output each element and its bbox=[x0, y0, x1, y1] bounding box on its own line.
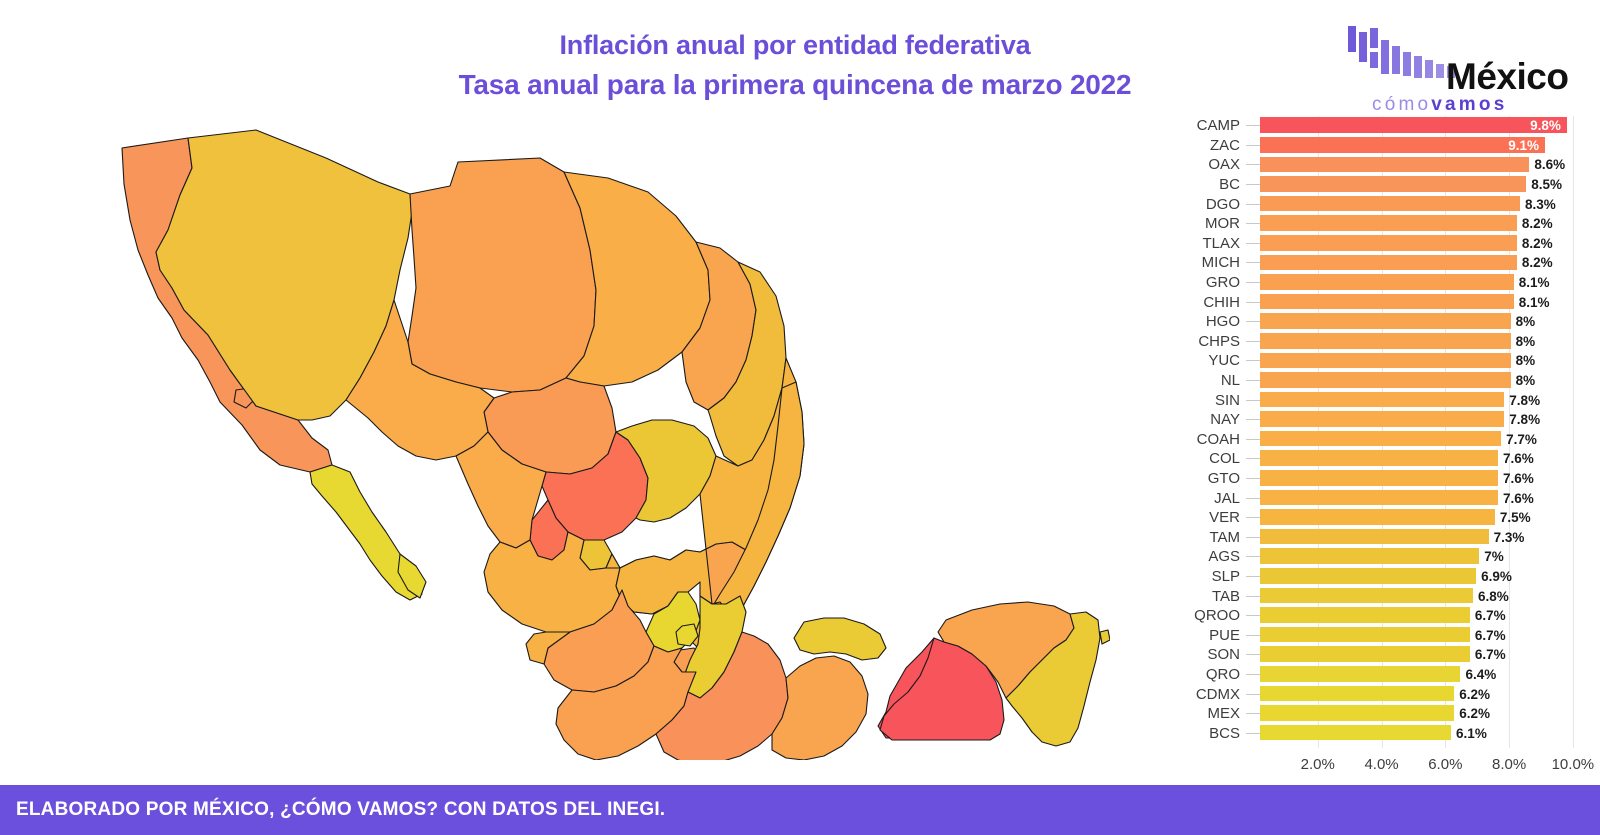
bar-row[interactable]: CHIH8.1% bbox=[1160, 292, 1592, 312]
bar-row[interactable]: SON6.7% bbox=[1160, 645, 1592, 665]
logo-tagline-vamos: vamos bbox=[1431, 94, 1507, 115]
logo-bar-8 bbox=[1425, 60, 1433, 78]
bar-fill[interactable] bbox=[1260, 470, 1498, 486]
chart-x-axis: 2.0%4.0%6.0%8.0%10.0% bbox=[1254, 750, 1592, 780]
bar-track: 7.7% bbox=[1260, 430, 1592, 450]
bar-category-label: VER bbox=[1160, 510, 1246, 525]
bar-category-label: MOR bbox=[1160, 216, 1246, 231]
bar-track: 6.7% bbox=[1260, 645, 1592, 665]
bar-category-label: SLP bbox=[1160, 569, 1246, 584]
bar-row[interactable]: SLP6.9% bbox=[1160, 567, 1592, 587]
bar-fill[interactable] bbox=[1260, 490, 1498, 506]
logo-bar-5 bbox=[1392, 46, 1400, 74]
bar-fill[interactable] bbox=[1260, 176, 1526, 192]
bar-value-label: 6.2% bbox=[1454, 704, 1490, 724]
bar-category-label: CHPS bbox=[1160, 334, 1246, 349]
bar-value-label: 6.2% bbox=[1454, 684, 1490, 704]
bar-fill[interactable] bbox=[1260, 450, 1498, 466]
logo-bar-3 bbox=[1370, 52, 1378, 68]
bar-row[interactable]: SIN7.8% bbox=[1160, 390, 1592, 410]
bar-value-label: 7.6% bbox=[1498, 449, 1534, 469]
bar-value-label: 7% bbox=[1479, 547, 1504, 567]
bar-row[interactable]: HGO8% bbox=[1160, 312, 1592, 332]
bar-tick-stub bbox=[1246, 635, 1260, 636]
bar-category-label: YUC bbox=[1160, 353, 1246, 368]
bar-tick-stub bbox=[1246, 400, 1260, 401]
bar-row[interactable]: GTO7.6% bbox=[1160, 469, 1592, 489]
bar-tick-stub bbox=[1246, 380, 1260, 381]
bar-category-label: CAMP bbox=[1160, 118, 1246, 133]
state-qroo-island bbox=[1100, 630, 1110, 644]
bar-category-label: BC bbox=[1160, 177, 1246, 192]
bar-row[interactable]: ZAC9.1% bbox=[1160, 136, 1592, 156]
bar-tick-stub bbox=[1246, 556, 1260, 557]
bar-track: 7.6% bbox=[1260, 449, 1592, 469]
bar-row[interactable]: CAMP9.8% bbox=[1160, 116, 1592, 136]
bar-value-label: 8.6% bbox=[1529, 155, 1565, 175]
bar-category-label: QROO bbox=[1160, 608, 1246, 623]
bar-track: 8.5% bbox=[1260, 175, 1592, 195]
bar-category-label: GTO bbox=[1160, 471, 1246, 486]
bar-value-label: 8.2% bbox=[1517, 234, 1553, 254]
logo-bar-7 bbox=[1414, 56, 1422, 78]
bar-track: 7.5% bbox=[1260, 508, 1592, 528]
bar-value-label: 6.1% bbox=[1451, 723, 1487, 743]
bar-track: 7.6% bbox=[1260, 469, 1592, 489]
horizontal-bar-chart: CAMP9.8%ZAC9.1%OAX8.6%BC8.5%DGO8.3%MOR8.… bbox=[1160, 116, 1592, 766]
bar-category-label: DGO bbox=[1160, 197, 1246, 212]
bar-fill[interactable] bbox=[1260, 294, 1514, 310]
bar-value-label: 6.4% bbox=[1460, 665, 1496, 685]
bar-track: 9.8% bbox=[1260, 116, 1592, 136]
bar-track: 6.2% bbox=[1260, 684, 1592, 704]
x-axis-tick-label: 10.0% bbox=[1552, 756, 1595, 773]
bar-fill[interactable] bbox=[1260, 137, 1545, 153]
bar-track: 6.9% bbox=[1260, 567, 1592, 587]
state-tab bbox=[794, 618, 886, 660]
footer-banner: ELABORADO POR MÉXICO, ¿CÓMO VAMOS? CON D… bbox=[0, 785, 1600, 835]
bar-value-label: 7.5% bbox=[1495, 508, 1531, 528]
logo-tagline-como: cómo bbox=[1372, 94, 1431, 115]
bar-category-label: MEX bbox=[1160, 706, 1246, 721]
footer-text: ELABORADO POR MÉXICO, ¿CÓMO VAMOS? CON D… bbox=[0, 799, 665, 821]
choropleth-map bbox=[60, 120, 1110, 760]
bar-tick-stub bbox=[1246, 164, 1260, 165]
bar-tick-stub bbox=[1246, 576, 1260, 577]
bar-category-label: JAL bbox=[1160, 491, 1246, 506]
bar-value-label: 8.2% bbox=[1517, 253, 1553, 273]
bar-tick-stub bbox=[1246, 478, 1260, 479]
bar-track: 7% bbox=[1260, 547, 1592, 567]
bar-category-label: HGO bbox=[1160, 314, 1246, 329]
x-axis-tick-label: 8.0% bbox=[1492, 756, 1526, 773]
bar-tick-stub bbox=[1246, 537, 1260, 538]
bar-category-label: SON bbox=[1160, 647, 1246, 662]
bar-category-label: CDMX bbox=[1160, 687, 1246, 702]
bar-category-label: BCS bbox=[1160, 726, 1246, 741]
bar-fill[interactable] bbox=[1260, 529, 1489, 545]
bar-track: 8.6% bbox=[1260, 155, 1592, 175]
bar-fill[interactable] bbox=[1260, 313, 1511, 329]
bar-row[interactable]: NL8% bbox=[1160, 371, 1592, 391]
x-axis-tick-label: 2.0% bbox=[1301, 756, 1335, 773]
bar-row[interactable]: MOR8.2% bbox=[1160, 214, 1592, 234]
bar-row[interactable]: VER7.5% bbox=[1160, 508, 1592, 528]
bar-value-label: 8.2% bbox=[1517, 214, 1553, 234]
bar-fill[interactable] bbox=[1260, 627, 1470, 643]
bar-value-label: 7.3% bbox=[1489, 527, 1525, 547]
state-chps bbox=[772, 656, 868, 760]
bar-row[interactable]: BCS6.1% bbox=[1160, 723, 1592, 743]
bar-fill[interactable] bbox=[1260, 372, 1511, 388]
title-line-2: Tasa anual para la primera quincena de m… bbox=[300, 65, 1290, 104]
bar-category-label: TLAX bbox=[1160, 236, 1246, 251]
bar-row[interactable]: QROO6.7% bbox=[1160, 606, 1592, 626]
bar-category-label: GRO bbox=[1160, 275, 1246, 290]
bar-value-label: 8.3% bbox=[1520, 194, 1556, 214]
bar-row[interactable]: PUE6.7% bbox=[1160, 625, 1592, 645]
page-title: Inflación anual por entidad federativa T… bbox=[300, 26, 1290, 104]
bar-fill[interactable] bbox=[1260, 215, 1517, 231]
logo-bar-9 bbox=[1436, 64, 1444, 78]
bar-tick-stub bbox=[1246, 125, 1260, 126]
bar-tick-stub bbox=[1246, 733, 1260, 734]
bar-fill[interactable] bbox=[1260, 509, 1495, 525]
bar-value-label: 7.6% bbox=[1498, 469, 1534, 489]
bar-row[interactable]: GRO8.1% bbox=[1160, 273, 1592, 293]
bar-value-label: 8.1% bbox=[1514, 273, 1550, 293]
bar-fill[interactable] bbox=[1260, 725, 1451, 741]
bar-track: 8.2% bbox=[1260, 234, 1592, 254]
bar-category-label: COL bbox=[1160, 451, 1246, 466]
bar-tick-stub bbox=[1246, 145, 1260, 146]
logo-tagline: cómovamos bbox=[1372, 94, 1507, 116]
bar-row[interactable]: CDMX6.2% bbox=[1160, 684, 1592, 704]
bar-fill[interactable] bbox=[1260, 196, 1520, 212]
logo-bar-4 bbox=[1381, 40, 1389, 74]
bar-tick-stub bbox=[1246, 282, 1260, 283]
bar-row[interactable]: QRO6.4% bbox=[1160, 665, 1592, 685]
x-axis-tick-label: 4.0% bbox=[1364, 756, 1398, 773]
bar-fill[interactable] bbox=[1260, 274, 1514, 290]
bar-fill[interactable] bbox=[1260, 392, 1504, 408]
bar-category-label: TAM bbox=[1160, 530, 1246, 545]
bar-category-label: CHIH bbox=[1160, 295, 1246, 310]
bar-value-label: 6.7% bbox=[1470, 625, 1506, 645]
bar-row[interactable]: AGS7% bbox=[1160, 547, 1592, 567]
bar-category-label: OAX bbox=[1160, 157, 1246, 172]
bar-category-label: COAH bbox=[1160, 432, 1246, 447]
bar-tick-stub bbox=[1246, 458, 1260, 459]
title-line-1: Inflación anual por entidad federativa bbox=[300, 26, 1290, 65]
bar-category-label: NAY bbox=[1160, 412, 1246, 427]
bar-track: 6.7% bbox=[1260, 606, 1592, 626]
bar-track: 6.8% bbox=[1260, 586, 1592, 606]
bar-row[interactable]: JAL7.6% bbox=[1160, 488, 1592, 508]
bar-category-label: TAB bbox=[1160, 589, 1246, 604]
bar-value-label: 7.7% bbox=[1501, 430, 1537, 450]
bar-track: 8.1% bbox=[1260, 273, 1592, 293]
bar-row[interactable]: NAY7.8% bbox=[1160, 410, 1592, 430]
bar-value-label: 9.1% bbox=[1508, 136, 1545, 156]
bar-category-label: QRO bbox=[1160, 667, 1246, 682]
bar-value-label: 9.8% bbox=[1530, 116, 1567, 136]
bar-value-label: 6.7% bbox=[1470, 645, 1506, 665]
bar-track: 7.8% bbox=[1260, 390, 1592, 410]
bar-row[interactable]: TLAX8.2% bbox=[1160, 234, 1592, 254]
bar-row[interactable]: TAB6.8% bbox=[1160, 586, 1592, 606]
bar-fill[interactable] bbox=[1260, 333, 1511, 349]
bar-category-label: SIN bbox=[1160, 393, 1246, 408]
bar-track: 6.7% bbox=[1260, 625, 1592, 645]
bar-tick-stub bbox=[1246, 184, 1260, 185]
bar-track: 8% bbox=[1260, 312, 1592, 332]
bar-row[interactable]: MICH8.2% bbox=[1160, 253, 1592, 273]
bar-track: 7.6% bbox=[1260, 488, 1592, 508]
bar-track: 8.2% bbox=[1260, 214, 1592, 234]
bar-fill[interactable] bbox=[1260, 568, 1476, 584]
logo-bar-2 bbox=[1370, 28, 1378, 48]
chart-bars: CAMP9.8%ZAC9.1%OAX8.6%BC8.5%DGO8.3%MOR8.… bbox=[1160, 116, 1592, 743]
bar-category-label: MICH bbox=[1160, 255, 1246, 270]
bar-row[interactable]: MEX6.2% bbox=[1160, 704, 1592, 724]
bar-fill[interactable] bbox=[1260, 607, 1470, 623]
bar-row[interactable]: COL7.6% bbox=[1160, 449, 1592, 469]
logo-bar-6 bbox=[1403, 52, 1411, 76]
bar-track: 8.2% bbox=[1260, 253, 1592, 273]
bar-tick-stub bbox=[1246, 596, 1260, 597]
bar-tick-stub bbox=[1246, 674, 1260, 675]
bar-fill[interactable] bbox=[1260, 646, 1470, 662]
bar-tick-stub bbox=[1246, 341, 1260, 342]
bar-track: 6.2% bbox=[1260, 704, 1592, 724]
bar-row[interactable]: YUC8% bbox=[1160, 351, 1592, 371]
bar-tick-stub bbox=[1246, 419, 1260, 420]
logo-bar-1 bbox=[1359, 32, 1367, 62]
bar-value-label: 7.8% bbox=[1504, 410, 1540, 430]
bar-fill[interactable] bbox=[1260, 686, 1454, 702]
bar-fill[interactable] bbox=[1260, 117, 1567, 133]
bar-row[interactable]: BC8.5% bbox=[1160, 175, 1592, 195]
bar-category-label: AGS bbox=[1160, 549, 1246, 564]
bar-tick-stub bbox=[1246, 360, 1260, 361]
logo-bar-0 bbox=[1348, 26, 1356, 52]
bar-row[interactable]: TAM7.3% bbox=[1160, 527, 1592, 547]
bar-track: 7.8% bbox=[1260, 410, 1592, 430]
bar-tick-stub bbox=[1246, 517, 1260, 518]
bar-track: 6.4% bbox=[1260, 665, 1592, 685]
bar-value-label: 8% bbox=[1511, 312, 1536, 332]
bar-track: 8% bbox=[1260, 332, 1592, 352]
bar-row[interactable]: COAH7.7% bbox=[1160, 430, 1592, 450]
bar-tick-stub bbox=[1246, 694, 1260, 695]
bar-fill[interactable] bbox=[1260, 411, 1504, 427]
bar-fill[interactable] bbox=[1260, 666, 1460, 682]
bar-value-label: 7.8% bbox=[1504, 390, 1540, 410]
bar-fill[interactable] bbox=[1260, 588, 1473, 604]
logo-wordmark: México bbox=[1446, 56, 1568, 98]
bar-track: 9.1% bbox=[1260, 136, 1592, 156]
bar-tick-stub bbox=[1246, 615, 1260, 616]
bar-category-label: ZAC bbox=[1160, 138, 1246, 153]
bar-row[interactable]: CHPS8% bbox=[1160, 332, 1592, 352]
bar-track: 8% bbox=[1260, 351, 1592, 371]
bar-category-label: PUE bbox=[1160, 628, 1246, 643]
bar-value-label: 8% bbox=[1511, 371, 1536, 391]
bar-tick-stub bbox=[1246, 439, 1260, 440]
bar-track: 8% bbox=[1260, 371, 1592, 391]
bar-fill[interactable] bbox=[1260, 157, 1529, 173]
bar-track: 8.1% bbox=[1260, 292, 1592, 312]
bar-tick-stub bbox=[1246, 223, 1260, 224]
bar-tick-stub bbox=[1246, 302, 1260, 303]
bar-tick-stub bbox=[1246, 654, 1260, 655]
bar-fill[interactable] bbox=[1260, 431, 1501, 447]
bar-tick-stub bbox=[1246, 243, 1260, 244]
bar-track: 6.1% bbox=[1260, 723, 1592, 743]
bar-category-label: NL bbox=[1160, 373, 1246, 388]
bar-tick-stub bbox=[1246, 204, 1260, 205]
logo-mexico-como-vamos: México cómovamos bbox=[1348, 22, 1588, 114]
bar-value-label: 8.1% bbox=[1514, 292, 1550, 312]
bar-fill[interactable] bbox=[1260, 353, 1511, 369]
bar-track: 7.3% bbox=[1260, 527, 1592, 547]
bar-fill[interactable] bbox=[1260, 235, 1517, 251]
bar-value-label: 6.9% bbox=[1476, 567, 1512, 587]
bar-value-label: 7.6% bbox=[1498, 488, 1534, 508]
bar-value-label: 8% bbox=[1511, 332, 1536, 352]
bar-value-label: 8.5% bbox=[1526, 175, 1562, 195]
map-svg bbox=[60, 120, 1110, 760]
bar-value-label: 8% bbox=[1511, 351, 1536, 371]
bar-value-label: 6.7% bbox=[1470, 606, 1506, 626]
bar-fill[interactable] bbox=[1260, 705, 1454, 721]
bar-fill[interactable] bbox=[1260, 548, 1479, 564]
x-axis-tick-label: 6.0% bbox=[1428, 756, 1462, 773]
bar-fill[interactable] bbox=[1260, 255, 1517, 271]
state-chih bbox=[408, 158, 596, 392]
bar-tick-stub bbox=[1246, 498, 1260, 499]
bar-row[interactable]: OAX8.6% bbox=[1160, 155, 1592, 175]
bar-track: 8.3% bbox=[1260, 194, 1592, 214]
bar-value-label: 6.8% bbox=[1473, 586, 1509, 606]
bar-tick-stub bbox=[1246, 321, 1260, 322]
bar-tick-stub bbox=[1246, 713, 1260, 714]
bar-tick-stub bbox=[1246, 262, 1260, 263]
bar-row[interactable]: DGO8.3% bbox=[1160, 194, 1592, 214]
